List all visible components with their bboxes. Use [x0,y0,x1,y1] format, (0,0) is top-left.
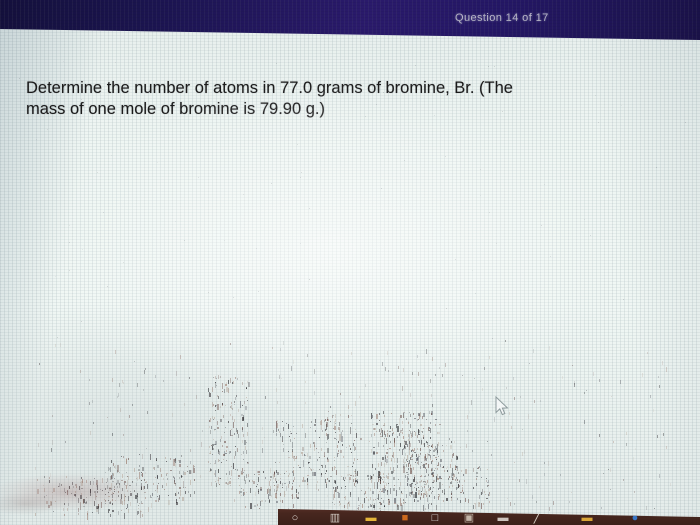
task-view-icon[interactable]: ▥ [326,511,344,525]
file-explorer-icon[interactable]: ▬ [362,511,380,525]
app-icon-orange[interactable]: ■ [396,511,414,525]
app-icon-white[interactable]: □ [426,511,444,525]
question-line-2: mass of one mole of bromine is 79.90 g.) [26,99,626,120]
arrow-pointer-icon [495,396,511,418]
question-line-1: Determine the number of atoms in 77.0 gr… [26,78,626,99]
photos-icon[interactable]: ▣ [460,511,478,525]
question-text: Determine the number of atoms in 77.0 gr… [26,78,626,120]
search-icon[interactable]: ○ [286,511,304,525]
question-counter: Question 14 of 17 [455,12,549,24]
